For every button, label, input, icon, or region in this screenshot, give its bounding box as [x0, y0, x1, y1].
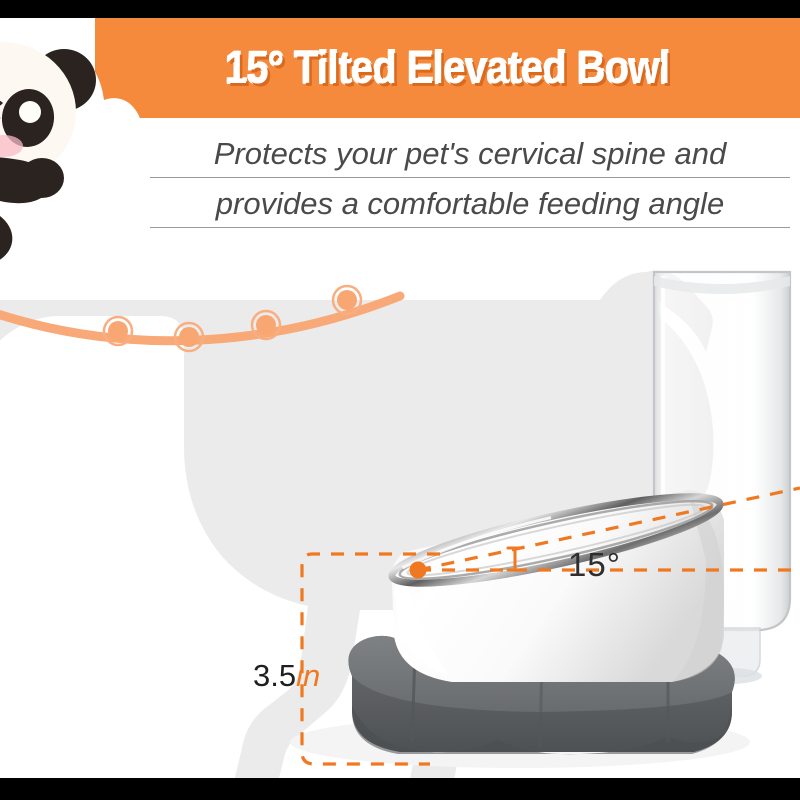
letterbox-bottom: [0, 778, 800, 800]
height-label: 3.5in: [253, 658, 320, 694]
infographic-canvas: 15° 3.5in: [0, 18, 800, 778]
panda-mascot-icon: [0, 20, 168, 270]
height-value: 3.5: [253, 658, 296, 693]
height-unit: in: [296, 658, 320, 693]
tilted-bowl: [391, 490, 724, 682]
letterbox-top: [0, 0, 800, 18]
angle-label: 15°: [568, 546, 621, 584]
infographic-stage: 15° 3.5in: [0, 0, 800, 800]
